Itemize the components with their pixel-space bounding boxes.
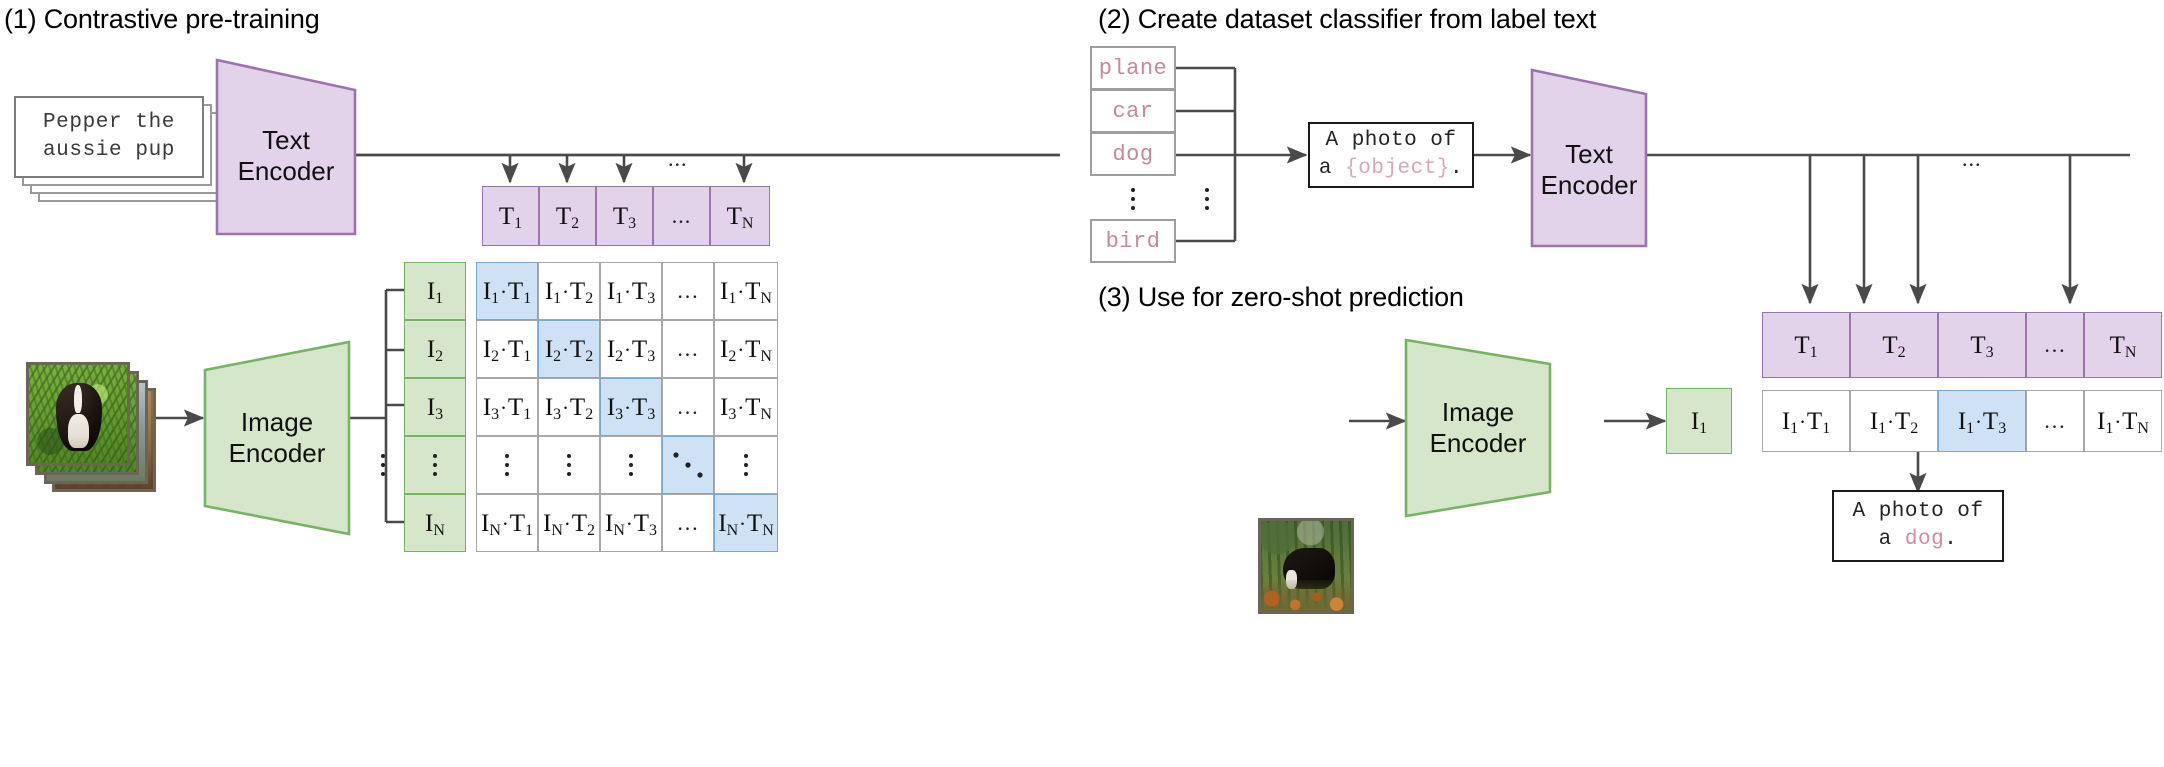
training-caption-stack: Pepper the aussie pup	[14, 96, 234, 202]
image-encoder-1-label: Image Encoder	[229, 407, 326, 468]
prediction-suffix: .	[1944, 528, 1957, 551]
caption-card-front: Pepper the aussie pup	[14, 96, 204, 178]
matrix-cell-3-3: I3·T3	[600, 378, 662, 436]
matrix-cell-1-1: I1·T1	[476, 262, 538, 320]
matrix-cell-4-3	[600, 436, 662, 494]
text-encoder-1-line1: Text	[238, 125, 335, 156]
prompt-template-token: {object}	[1345, 157, 1450, 180]
matrix-cell-4-4	[662, 436, 714, 494]
classifier-ellipsis: …	[2026, 312, 2084, 378]
zero-shot-score-1: I1·T1	[1762, 390, 1850, 452]
classifier-TN: TN	[2084, 312, 2162, 378]
label-box-bird-text: bird	[1106, 229, 1161, 254]
text-encoder-1[interactable]: Text Encoder	[215, 58, 357, 236]
prompt-template-box[interactable]: A photo of a {object}.	[1308, 122, 1474, 188]
text-embedding-T2: T2	[539, 186, 596, 246]
text-encoder-2-line1: Text	[1541, 139, 1638, 170]
section-1-heading: (1) Contrastive pre-training	[4, 4, 320, 35]
matrix-cell-5-2: IN·T2	[538, 494, 600, 552]
label-box-dog-text: dog	[1112, 142, 1153, 167]
zero-shot-prediction-text: A photo of a dog.	[1852, 498, 1983, 555]
matrix-cell-5-5: IN·TN	[714, 494, 778, 552]
zero-shot-input-image	[1258, 518, 1354, 614]
zero-shot-score-ellipsis: …	[2026, 390, 2084, 452]
image-encoder-1-line1: Image	[229, 407, 326, 438]
text-embedding-ellipsis-label: ...	[672, 205, 692, 227]
text-encoder-2-label: Text Encoder	[1541, 139, 1638, 200]
zero-shot-score-N: I1·TN	[2084, 390, 2162, 452]
text-embedding-T3: T3	[596, 186, 653, 246]
label-box-car-text: car	[1112, 99, 1153, 124]
text-encoder-1-label: Text Encoder	[238, 125, 335, 186]
image-encoder-3-line2: Encoder	[1430, 428, 1527, 459]
matrix-cell-3-5: I3·TN	[714, 378, 778, 436]
image-embedding-ellipsis	[404, 436, 466, 494]
diagonal-dots-icon	[671, 450, 705, 480]
image-encoder-3-line1: Image	[1430, 397, 1527, 428]
matrix-cell-5-4: …	[662, 494, 714, 552]
text-encoder-2-bus-ellipsis: ...	[1962, 148, 1982, 170]
section-3-heading: (3) Use for zero-shot prediction	[1098, 282, 1464, 313]
matrix-cell-4-2	[538, 436, 600, 494]
label-box-dog[interactable]: dog	[1090, 132, 1176, 176]
zero-shot-prediction-box: A photo of a dog.	[1832, 490, 2004, 562]
prompt-template-text: A photo of a {object}.	[1319, 127, 1463, 184]
matrix-cell-3-4: …	[662, 378, 714, 436]
prediction-token: dog	[1905, 528, 1944, 551]
image-embedding-IN: IN	[404, 494, 466, 552]
image-bus-ellipsis	[378, 450, 388, 480]
matrix-cell-2-4: …	[662, 320, 714, 378]
clip-diagram: (1) Contrastive pre-training Pepper the …	[0, 0, 2164, 767]
matrix-cell-2-3: I2·T3	[600, 320, 662, 378]
image-encoder-3[interactable]: Image Encoder	[1404, 338, 1552, 518]
image-embedding-I1: I1	[404, 262, 466, 320]
matrix-cell-2-2: I2·T2	[538, 320, 600, 378]
text-encoder-2-line2: Encoder	[1541, 170, 1638, 201]
label-box-plane[interactable]: plane	[1090, 46, 1176, 90]
zero-shot-score-2: I1·T2	[1850, 390, 1938, 452]
prediction-line1: A photo of	[1852, 498, 1983, 526]
text-encoder-2[interactable]: Text Encoder	[1530, 68, 1648, 248]
training-image-stack	[26, 362, 166, 492]
matrix-cell-4-5	[714, 436, 778, 494]
text-encoder-1-line2: Encoder	[238, 156, 335, 187]
matrix-cell-5-1: IN·T1	[476, 494, 538, 552]
training-photo-1	[26, 362, 130, 466]
text-bus-ellipsis: ...	[668, 148, 688, 170]
label-box-plane-text: plane	[1099, 56, 1168, 81]
image-encoder-1-line2: Encoder	[229, 438, 326, 469]
prompt-template-prefix: a	[1319, 157, 1345, 180]
zero-shot-score-3: I1·T3	[1938, 390, 2026, 452]
prompt-template-suffix: .	[1450, 157, 1463, 180]
image-encoder-3-label: Image Encoder	[1430, 397, 1527, 458]
matrix-cell-1-3: I1·T3	[600, 262, 662, 320]
image-embedding-I3: I3	[404, 378, 466, 436]
matrix-cell-4-1	[476, 436, 538, 494]
label-box-car[interactable]: car	[1090, 89, 1176, 133]
label-list-ellipsis	[1128, 183, 1138, 215]
text-embedding-ellipsis: ...	[653, 186, 710, 246]
label-box-bird[interactable]: bird	[1090, 219, 1176, 263]
matrix-cell-1-4: …	[662, 262, 714, 320]
prediction-line2: a dog.	[1852, 526, 1983, 554]
caption-text: Pepper the aussie pup	[43, 109, 175, 164]
matrix-cell-1-5: I1·TN	[714, 262, 778, 320]
prompt-template-line1: A photo of	[1319, 127, 1463, 155]
matrix-cell-3-2: I3·T2	[538, 378, 600, 436]
prediction-prefix: a	[1879, 528, 1905, 551]
classifier-T2: T2	[1850, 312, 1938, 378]
classifier-T1: T1	[1762, 312, 1850, 378]
matrix-cell-2-5: I2·TN	[714, 320, 778, 378]
text-embedding-T1: T1	[482, 186, 539, 246]
matrix-cell-5-3: IN·T3	[600, 494, 662, 552]
matrix-cell-1-2: I1·T2	[538, 262, 600, 320]
prompt-template-line2: a {object}.	[1319, 155, 1463, 183]
matrix-cell-2-1: I2·T1	[476, 320, 538, 378]
text-embedding-TN: TN	[710, 186, 770, 246]
image-encoder-1[interactable]: Image Encoder	[203, 340, 351, 536]
matrix-cell-3-1: I3·T1	[476, 378, 538, 436]
section-2-heading: (2) Create dataset classifier from label…	[1098, 4, 1596, 35]
classifier-T3: T3	[1938, 312, 2026, 378]
zero-shot-image-embedding-I1: I1	[1666, 388, 1732, 454]
image-embedding-I2: I2	[404, 320, 466, 378]
label-bus-ellipsis	[1202, 183, 1212, 215]
